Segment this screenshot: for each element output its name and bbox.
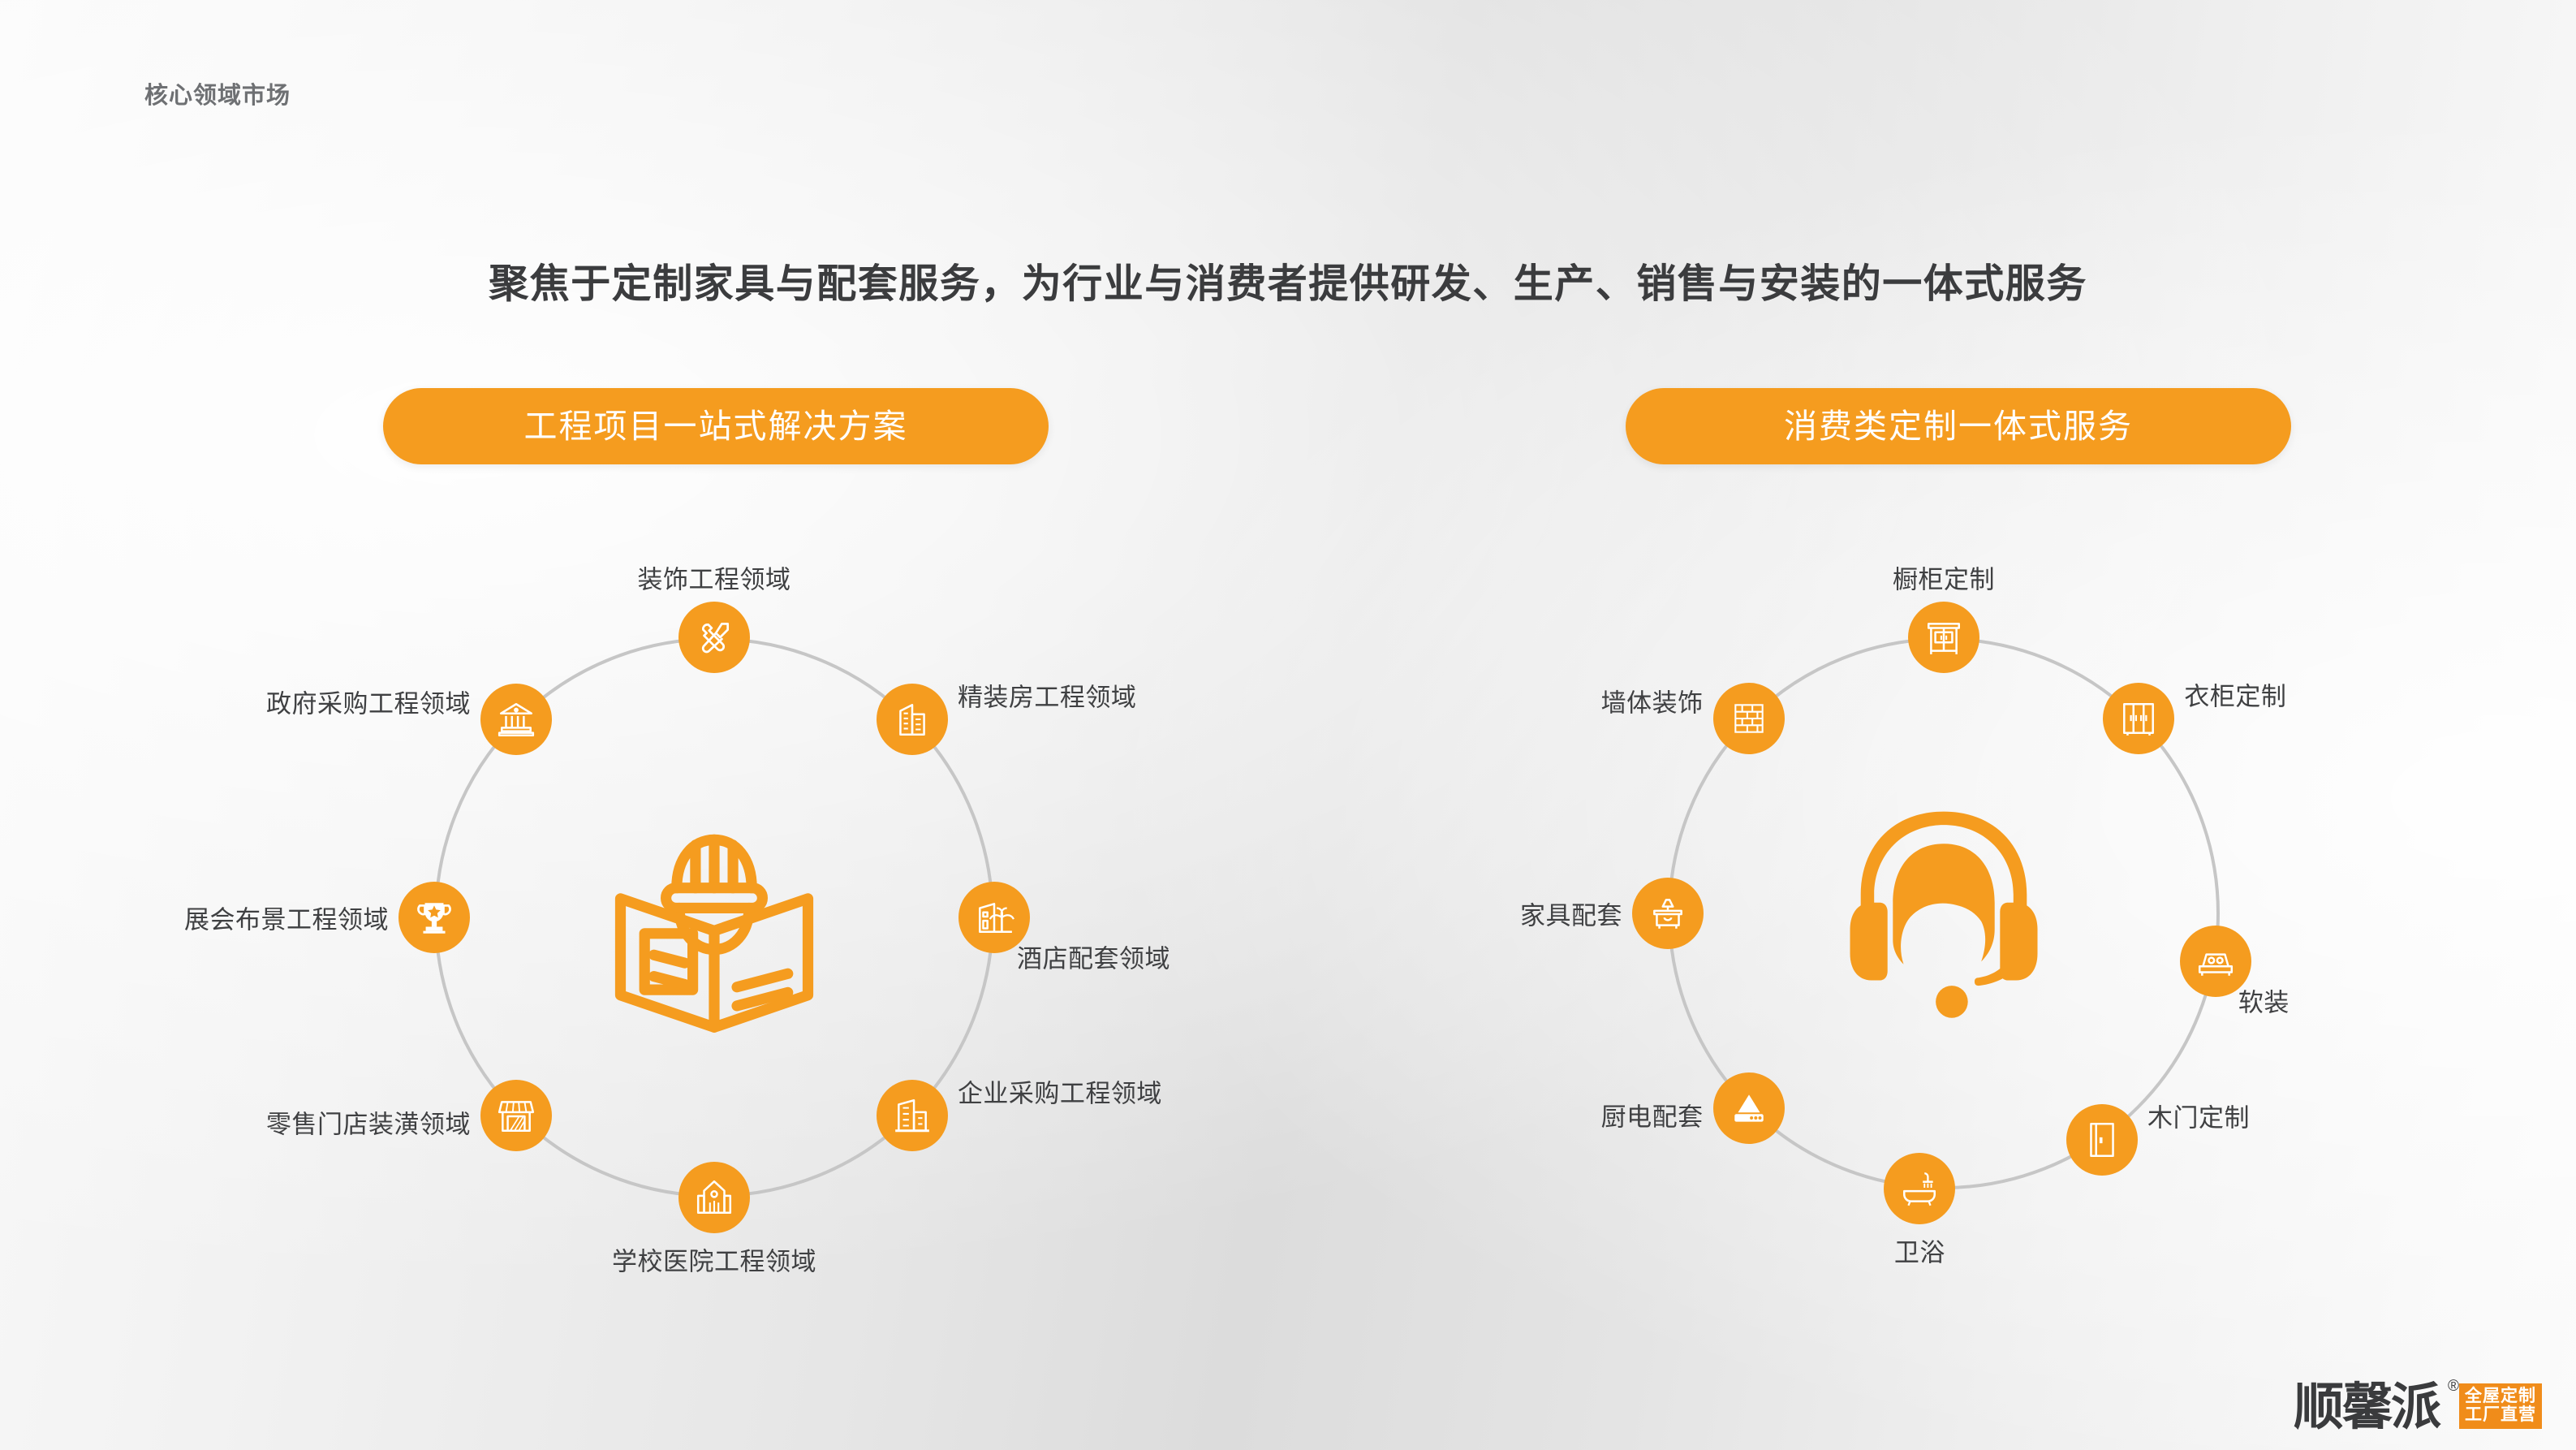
node-label: 橱柜定制: [1893, 559, 1995, 596]
node-corporate-building-icon[interactable]: [877, 1080, 948, 1151]
corporate-building-icon: [892, 1095, 933, 1136]
page-title: 聚焦于定制家具与配套服务，为行业与消费者提供研发、生产、销售与安装的一体式服务: [0, 252, 2576, 309]
school-hospital-icon: [694, 1177, 734, 1218]
node-label: 装饰工程领域: [638, 559, 791, 596]
logo-brand-text: 顺馨派: [2294, 1379, 2440, 1435]
logo-wordmark: 顺馨派 ®: [2294, 1384, 2440, 1432]
cluster-engineering: 装饰工程领域精装房工程领域酒店配套领域企业采购工程领域学校医院工程领域零售门店装…: [402, 605, 1027, 1230]
node-door-icon[interactable]: [2066, 1104, 2138, 1176]
brick-wall-icon: [1729, 698, 1769, 739]
trophy-icon: [414, 897, 454, 938]
nightstand-icon: [1648, 893, 1688, 934]
pill-engineering-solution[interactable]: 工程项目一站式解决方案: [383, 388, 1049, 464]
node-office-buildings-icon[interactable]: [877, 684, 948, 755]
brand-logo: 顺馨派 ® 全屋定制 工厂直营: [2294, 1383, 2542, 1432]
node-label: 企业采购工程领域: [958, 1072, 1162, 1109]
node-school-hospital-icon[interactable]: [678, 1162, 750, 1233]
node-label: 衣柜定制: [2184, 675, 2286, 712]
node-label: 酒店配套领域: [1017, 939, 1170, 975]
office-buildings-icon: [892, 699, 933, 740]
node-cabinet-icon[interactable]: [1908, 602, 1979, 673]
node-label: 卫浴: [1894, 1232, 1945, 1268]
pill-consumer-service[interactable]: 消费类定制一体式服务: [1626, 388, 2291, 464]
hotel-palm-icon: [974, 897, 1014, 938]
worker-blueprint-icon: [580, 783, 848, 1051]
node-label: 学校医院工程领域: [612, 1241, 816, 1278]
bed-icon: [2195, 941, 2236, 982]
node-range-hood-icon[interactable]: [1713, 1072, 1785, 1144]
node-label: 软装: [2238, 982, 2290, 1019]
registered-mark-icon: ®: [2448, 1379, 2458, 1394]
node-wardrobe-icon[interactable]: [2103, 683, 2174, 754]
node-label: 厨电配套: [1601, 1097, 1704, 1133]
wardrobe-icon: [2118, 698, 2159, 739]
storefront-icon: [496, 1095, 536, 1136]
node-trophy-icon[interactable]: [398, 882, 470, 953]
page-kicker: 核心领域市场: [144, 76, 291, 110]
hammer-wrench-icon: [694, 617, 734, 658]
cluster-consumer: 橱柜定制衣柜定制软装木门定制卫浴厨电配套家具配套墙体装饰: [1635, 605, 2252, 1222]
bathtub-icon: [1899, 1168, 1940, 1209]
door-icon: [2082, 1120, 2122, 1160]
node-label: 展会布景工程领域: [184, 900, 389, 936]
node-label: 精装房工程领域: [958, 677, 1137, 714]
node-label: 家具配套: [1520, 895, 1622, 932]
node-storefront-icon[interactable]: [480, 1080, 552, 1151]
government-bank-icon: [496, 699, 536, 740]
node-label: 木门定制: [2147, 1097, 2250, 1133]
node-government-bank-icon[interactable]: [480, 684, 552, 755]
cabinet-icon: [1923, 617, 1964, 658]
node-label: 零售门店装潢领域: [266, 1103, 471, 1140]
node-bathtub-icon[interactable]: [1884, 1153, 1955, 1224]
range-hood-icon: [1729, 1088, 1769, 1128]
node-label: 墙体装饰: [1601, 682, 1704, 719]
headset-support-agent-icon: [1810, 779, 2078, 1047]
node-hammer-wrench-icon[interactable]: [678, 602, 750, 673]
logo-tagline-line1: 全屋定制: [2465, 1387, 2536, 1406]
logo-tagline-line2: 工厂直营: [2465, 1405, 2536, 1425]
node-nightstand-icon[interactable]: [1632, 878, 1704, 949]
node-label: 政府采购工程领域: [266, 684, 471, 720]
logo-tagline-badge: 全屋定制 工厂直营: [2459, 1383, 2542, 1429]
node-brick-wall-icon[interactable]: [1713, 683, 1785, 754]
